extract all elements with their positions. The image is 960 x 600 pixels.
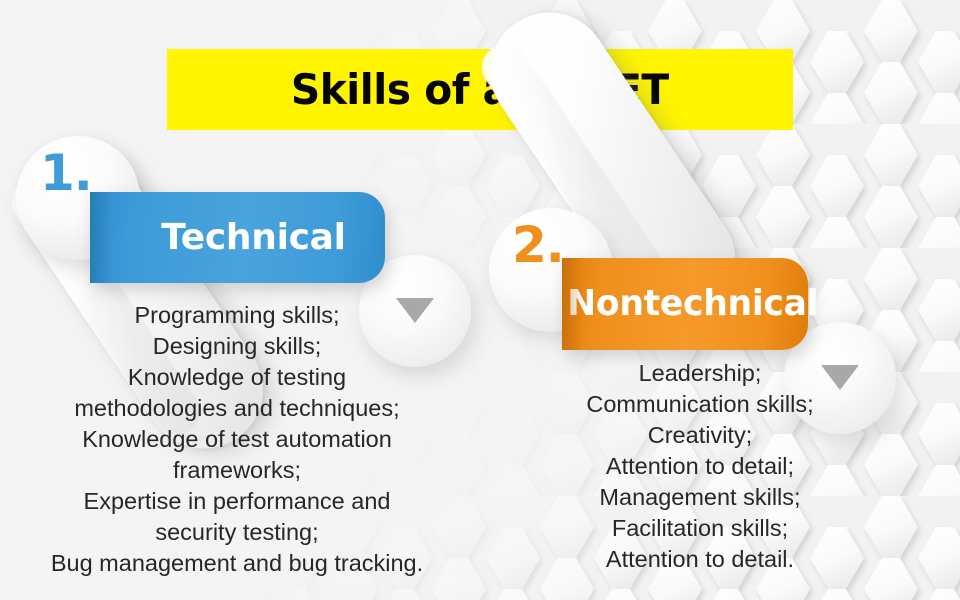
infographic-canvas: Skills of an SDET 1. Technical Programmi…	[0, 0, 960, 600]
ribbon-fold-shadow	[90, 192, 112, 283]
card-ribbon-nontechnical[interactable]: Nontechnical	[562, 258, 808, 350]
card-label-nontechnical: Nontechnical	[568, 286, 819, 322]
card-body-technical: Programming skills; Designing skills; Kn…	[6, 300, 468, 579]
card-label-technical: Technical	[161, 220, 345, 256]
card-number-technical: 1.	[40, 148, 92, 198]
page-title-banner: Skills of an SDET	[167, 49, 793, 130]
card-ribbon-technical[interactable]: Technical	[90, 192, 385, 283]
ribbon-fold-shadow	[562, 258, 584, 350]
card-body-nontechnical: Leadership; Communication skills; Creati…	[505, 358, 895, 575]
card-number-nontechnical: 2.	[512, 220, 564, 270]
